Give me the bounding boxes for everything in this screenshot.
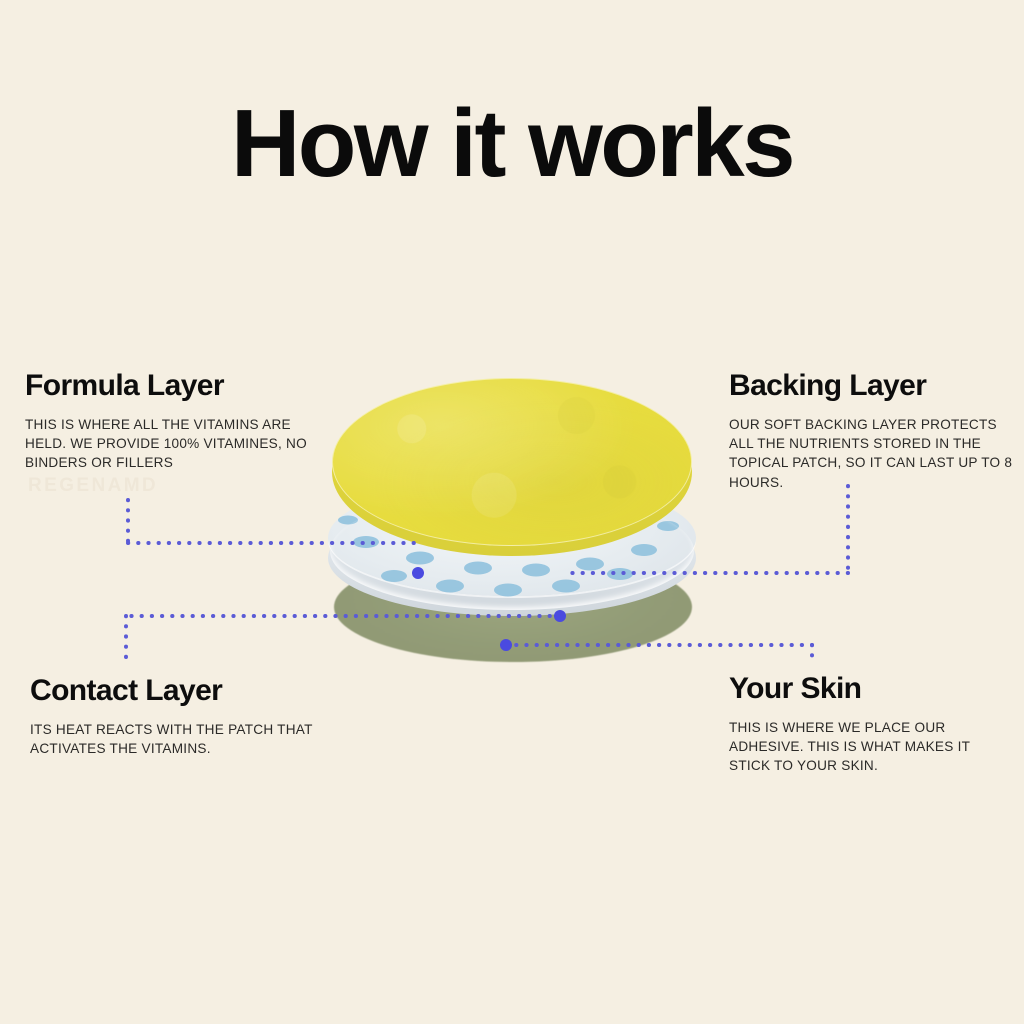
callout-contact-layer: Contact Layer ITS HEAT REACTS WITH THE P…: [30, 675, 340, 758]
callout-body-contact-layer: ITS HEAT REACTS WITH THE PATCH THAT ACTI…: [30, 720, 340, 759]
callout-body-backing-layer: OUR SOFT BACKING LAYER PROTECTS ALL THE …: [729, 415, 1019, 493]
callout-body-your-skin: THIS IS WHERE WE PLACE OUR ADHESIVE. THI…: [729, 718, 1009, 776]
callout-heading-contact-layer: Contact Layer: [30, 675, 340, 707]
infographic-canvas: How it works: [0, 0, 1024, 1024]
callout-heading-your-skin: Your Skin: [729, 673, 1009, 705]
callout-formula-layer: Formula Layer THIS IS WHERE ALL THE VITA…: [25, 370, 335, 473]
callout-heading-formula-layer: Formula Layer: [25, 370, 335, 402]
callout-your-skin: Your Skin THIS IS WHERE WE PLACE OUR ADH…: [729, 673, 1009, 776]
callout-body-formula-layer: THIS IS WHERE ALL THE VITAMINS ARE HELD.…: [25, 415, 335, 473]
brand-watermark: REGENAMD: [28, 475, 158, 497]
formula-disc-top: [332, 378, 692, 546]
page-title: How it works: [0, 96, 1024, 192]
callout-backing-layer: Backing Layer OUR SOFT BACKING LAYER PRO…: [729, 370, 1019, 492]
exploded-patch-illustration: [312, 372, 712, 672]
callout-heading-backing-layer: Backing Layer: [729, 370, 1019, 402]
